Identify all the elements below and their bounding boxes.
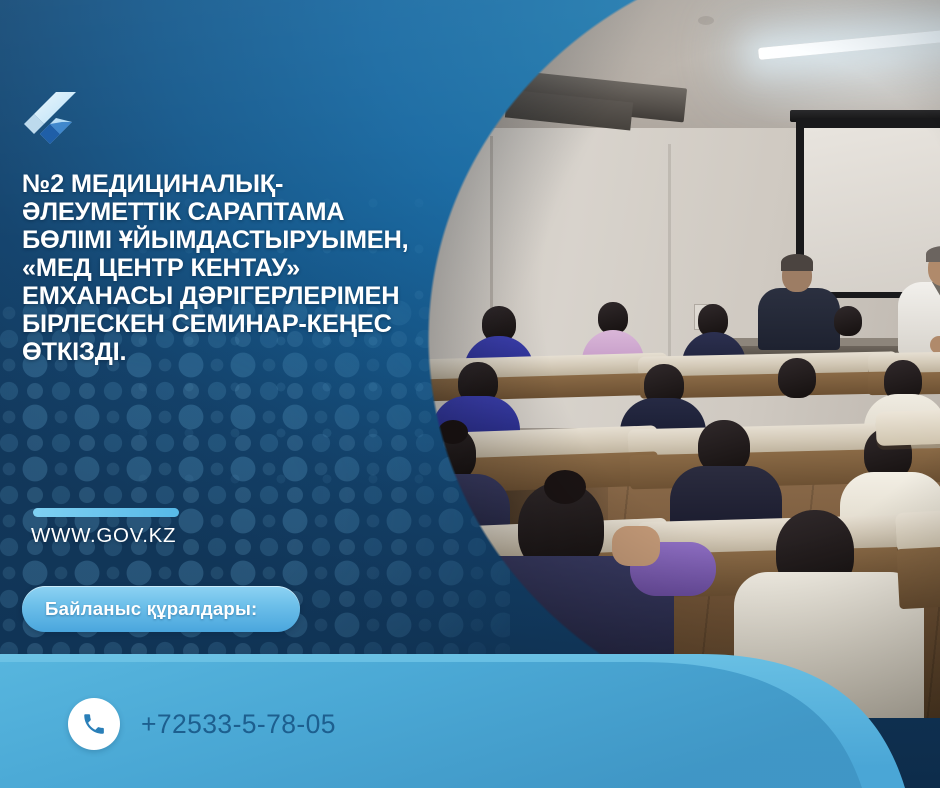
poster-canvas: №2 МЕДИЦИНАЛЫҚ-ӘЛЕУМЕТТІК САРАПТАМА БӨЛІ…: [0, 0, 940, 788]
phone-number: +72533-5-78-05: [141, 709, 336, 740]
seminar-lecture-hall-photo: [398, 0, 940, 718]
website-url: WWW.GOV.KZ: [31, 524, 176, 548]
contact-label-pill[interactable]: Байланыс құралдары:: [22, 586, 300, 632]
poster-content: №2 МЕДИЦИНАЛЫҚ-ӘЛЕУМЕТТІК САРАПТАМА БӨЛІ…: [0, 0, 460, 788]
contact-label-text: Байланыс құралдары:: [45, 598, 257, 620]
phone-contact-row[interactable]: +72533-5-78-05: [68, 698, 336, 750]
page-title: №2 МЕДИЦИНАЛЫҚ-ӘЛЕУМЕТТІК САРАПТАМА БӨЛІ…: [22, 170, 434, 366]
phone-icon-badge: [68, 698, 120, 750]
flutter-logo-icon: [24, 88, 82, 150]
accent-divider: [33, 508, 179, 517]
phone-handset-icon: [81, 711, 107, 737]
